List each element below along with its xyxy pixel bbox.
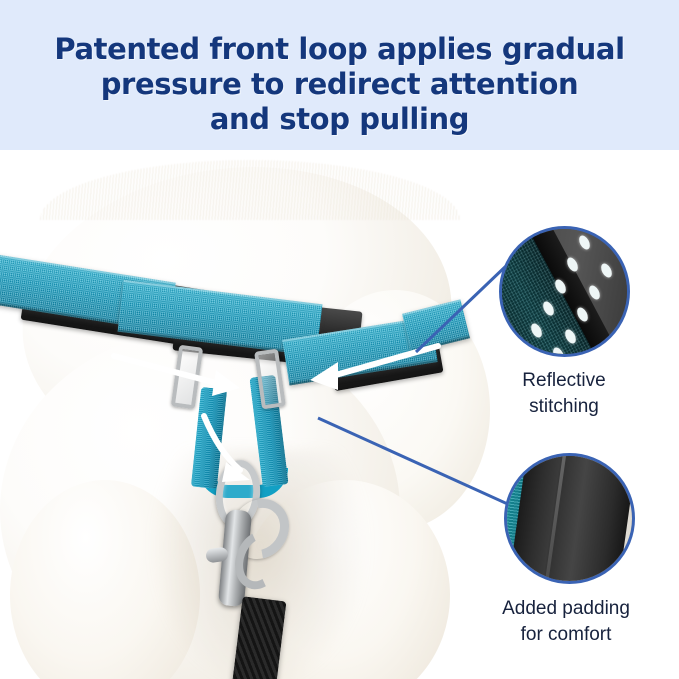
callout-label-reflective-stitching: Reflective stitching bbox=[464, 368, 664, 420]
callout-added-padding[interactable] bbox=[504, 453, 635, 584]
callout-label-added-padding: Added padding for comfort bbox=[466, 596, 666, 648]
callout-label-line-2: for comfort bbox=[466, 622, 666, 648]
leader-line-added-padding bbox=[318, 418, 512, 506]
callout-reflective-stitching[interactable] bbox=[499, 226, 630, 357]
callout-label-line-1: Reflective bbox=[464, 368, 664, 394]
callout-label-line-2: stitching bbox=[464, 394, 664, 420]
leader-line-reflective-stitching bbox=[416, 266, 506, 352]
callout-label-line-1: Added padding bbox=[466, 596, 666, 622]
product-infographic: Patented front loop applies gradual pres… bbox=[0, 0, 679, 679]
